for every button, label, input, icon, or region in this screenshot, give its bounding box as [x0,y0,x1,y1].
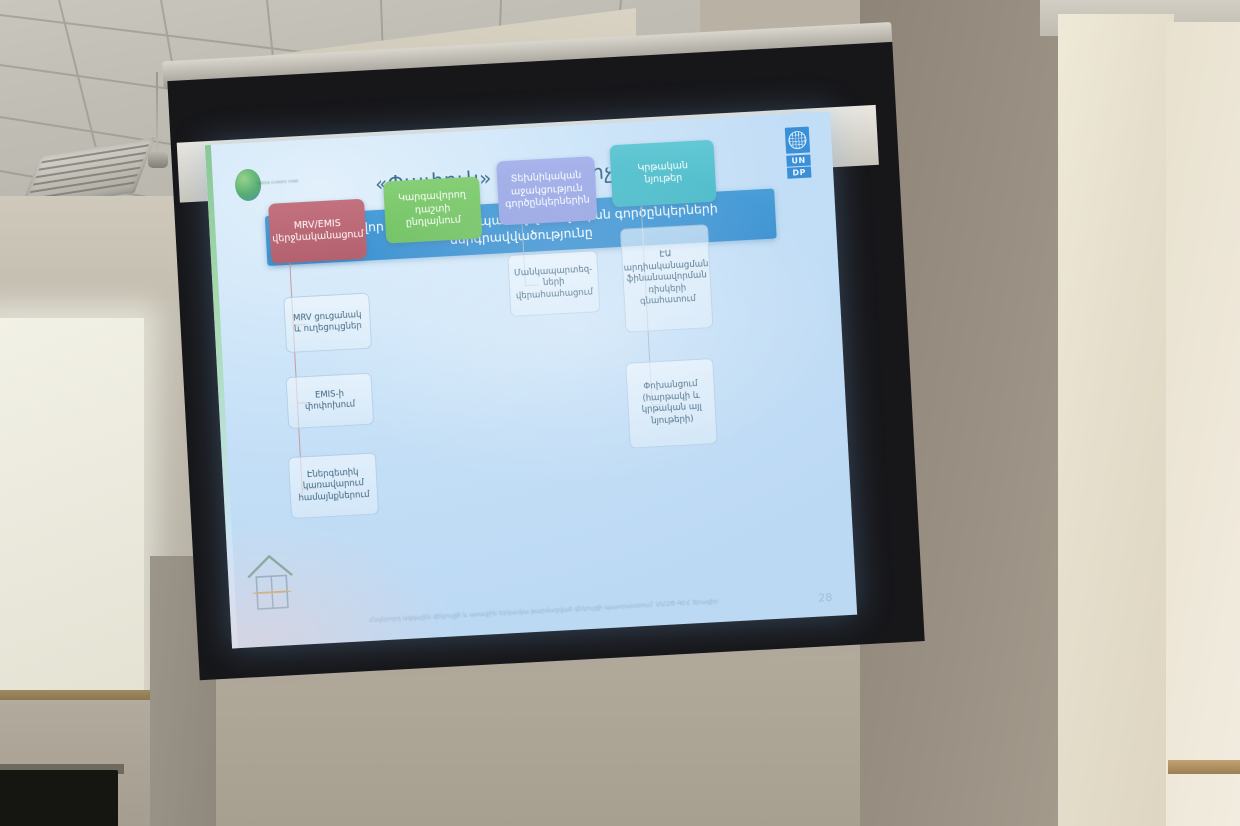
subcard-mrv-guidelines[interactable]: MRV ցուցանակ և ուղեցույցներ [283,293,372,354]
house-icon [241,549,300,614]
slide-number: 28 [818,591,833,605]
card-regulatory[interactable]: Կարգավորող դաշտի ընդլայնում [383,176,482,243]
window [0,318,144,700]
wall-right-far-panel [1166,22,1240,826]
subcard-energy-management[interactable]: Էներգետիկ կառավարում համայնքներում [288,452,379,519]
presentation-slide: GREEN CLIMATE FUND UN DP «Փափուկ» բաղադր… [205,111,857,648]
room-scene: GREEN CLIMATE FUND UN DP «Փափուկ» բաղադր… [0,0,1240,826]
monitor [0,770,118,826]
card-educational-materials[interactable]: Կրթական նյութեր [609,140,716,208]
subcard-transfer-platform[interactable]: Փոխանցում (հարթակի և կրթական այլ նյութեր… [625,358,718,449]
subcard-emis-change[interactable]: EMIS-ի փոփոխում [286,373,375,430]
card-technical-support[interactable]: Տեխնիկական աջակցություն գործընկերներին [496,156,597,225]
subcard-ee-financing-risks[interactable]: ԷԱ արդիականացման ֆինանսավորման ռիսկերի գ… [620,224,713,333]
subcard-kindergartens[interactable]: Մանկապարտեզ- ների վերահսահացում [507,250,600,317]
projection-screen: GREEN CLIMATE FUND UN DP «Փափուկ» բաղադր… [150,0,925,679]
wooden-shelf [1168,760,1240,774]
card-mrv-emis[interactable]: MRV/EMIS վերջնականացում [268,199,367,264]
wall-right-panel [1058,14,1174,826]
